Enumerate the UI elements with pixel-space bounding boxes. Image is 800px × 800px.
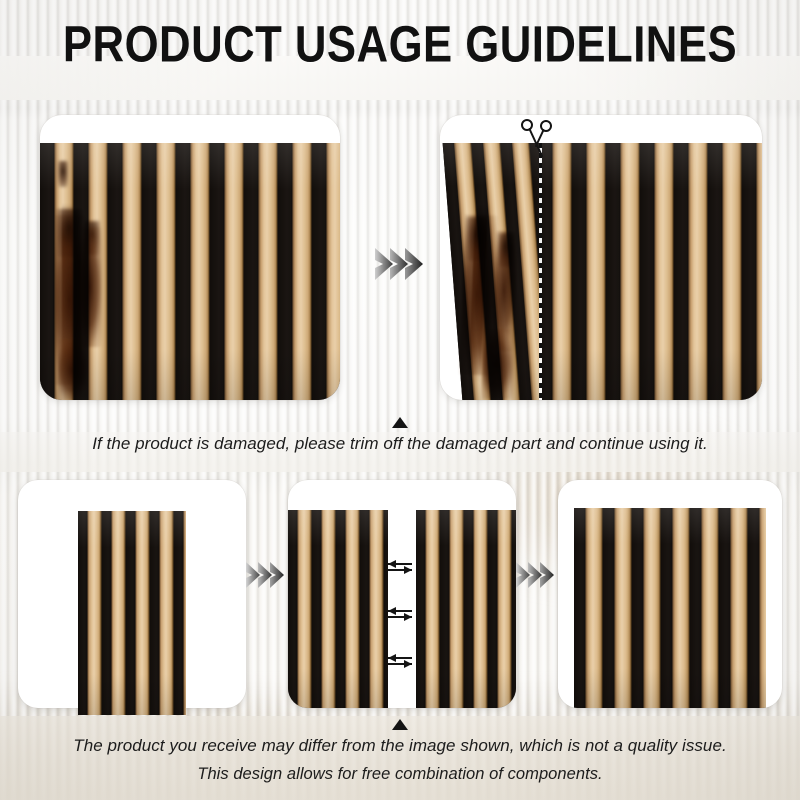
slat-shading bbox=[442, 143, 542, 400]
triple-chevron-arrow-row2-a bbox=[244, 555, 292, 595]
card-exchange-panel bbox=[288, 480, 516, 708]
triple-chevron-arrow-row1 bbox=[373, 240, 433, 288]
caption-quality-note: The product you receive may differ from … bbox=[0, 731, 800, 760]
caption-combination-note: This design allows for free combination … bbox=[0, 760, 800, 789]
card-damaged-panel bbox=[40, 115, 340, 400]
triangle-up-icon-row1 bbox=[392, 417, 408, 428]
page-title: PRODUCT USAGE GUIDELINES bbox=[28, 16, 772, 72]
slat-wall-damaged-section bbox=[442, 143, 542, 400]
single-panel-clip bbox=[78, 511, 186, 715]
card-combined-panel bbox=[558, 480, 782, 708]
damaged-section-wrapper bbox=[440, 143, 542, 400]
slat-shading bbox=[574, 508, 766, 708]
slat-shading bbox=[78, 511, 186, 715]
slat-wall-damaged bbox=[40, 143, 340, 400]
cut-dashed-line bbox=[539, 143, 542, 400]
card-trim-panel bbox=[440, 115, 762, 400]
slat-wall-good-section bbox=[538, 143, 762, 400]
slat-shading bbox=[538, 143, 762, 400]
slat-wall-combined bbox=[574, 508, 766, 708]
caption-trim-damage: If the product is damaged, please trim o… bbox=[0, 429, 800, 458]
slat-wall-exchange-left bbox=[288, 510, 388, 708]
slat-shading bbox=[288, 510, 388, 708]
scissors-icon bbox=[516, 116, 558, 162]
triangle-up-icon-row2 bbox=[392, 719, 408, 730]
slat-shading bbox=[416, 510, 516, 708]
exchange-arrows-icon-3 bbox=[384, 650, 416, 672]
slat-shading bbox=[40, 143, 340, 400]
triple-chevron-arrow-row2-b bbox=[514, 555, 562, 595]
exchange-arrows-icon-2 bbox=[384, 603, 416, 625]
slat-wall-exchange-right bbox=[416, 510, 516, 708]
slat-wall-single bbox=[78, 511, 186, 715]
exchange-arrows-icon-1 bbox=[384, 556, 416, 578]
